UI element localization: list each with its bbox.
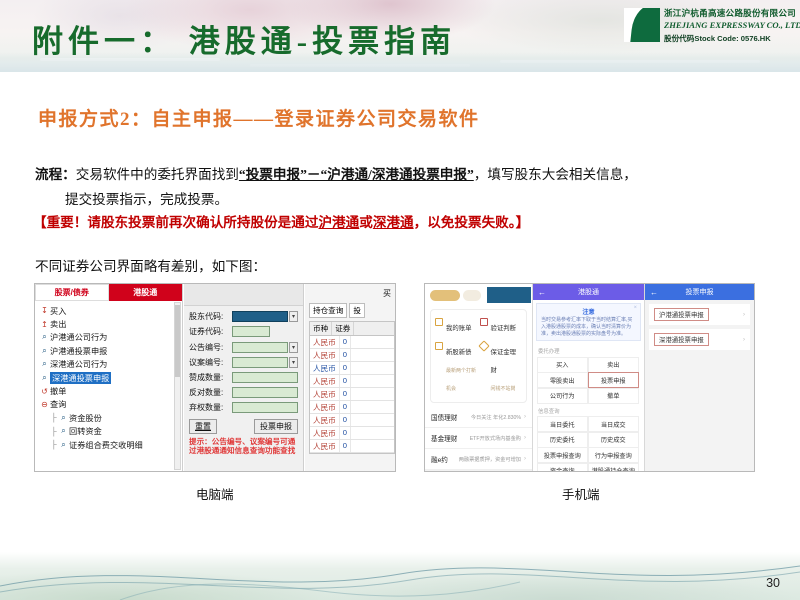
mobile-trade-button-2[interactable]: 零股卖出 xyxy=(537,372,589,388)
pc-table-body: 人民币0人民币0人民币0人民币0人民币0人民币0人民币0人民币0人民币0 xyxy=(310,336,394,453)
pc-menu-item-3[interactable]: ⌕沪港通投票申报 xyxy=(39,344,182,357)
cell-currency: 人民币 xyxy=(310,362,340,374)
list-item-label: 基金理财 xyxy=(431,433,457,443)
back-arrow-icon[interactable]: ← xyxy=(650,288,658,297)
mobile-quick-newstock[interactable]: 新股新债 最新两个打新机会 xyxy=(434,338,479,398)
mobile-hk-title: 港股通 xyxy=(533,287,644,297)
pc-form-row-2: 公告编号:▾ xyxy=(189,340,298,354)
table-row[interactable]: 人民币0 xyxy=(310,349,394,362)
list-item-label: 国债理财 xyxy=(431,412,457,422)
up-arrow-icon: ↥ xyxy=(39,320,50,329)
pc-form-row-1: 证券代码: xyxy=(189,325,298,339)
mobile-vote-titlebar: ← 投票申报 xyxy=(645,284,754,300)
flow-line-2: 提交投票指示，完成投票。 xyxy=(35,187,780,212)
cell-security: 0 xyxy=(340,440,351,452)
flow-text-1: 交易软件中的委托界面找到 xyxy=(76,167,239,182)
company-logo: 浙江沪杭甬高速公路股份有限公司 ZHEJIANG EXPRESSWAY CO.,… xyxy=(624,7,794,55)
tree-dash-icon: ├ xyxy=(51,413,58,422)
pc-menu-item-label: 资金股份 xyxy=(69,412,102,424)
pc-right-tab-positions[interactable]: 持仓查询 xyxy=(309,303,347,318)
down-arrow-icon: ↧ xyxy=(39,306,50,315)
search-icon: ⌕ xyxy=(39,332,50,342)
cell-currency: 人民币 xyxy=(310,440,340,452)
search-icon: ⌕ xyxy=(39,359,50,369)
pc-menu-item-label: 深港通投票申报 xyxy=(50,372,111,384)
mobile-home-topbar xyxy=(425,284,532,308)
pc-right-panel: 买 持仓查询 投 币种 证券 人民币0人民币0人民币0人民币0人民币0人民币0人… xyxy=(305,284,395,471)
pc-right-tabs: 持仓查询 投 xyxy=(305,299,395,318)
warning-mid: 或 xyxy=(359,215,373,230)
pc-field-label-1: 证券代码: xyxy=(189,326,232,337)
note-line: 不同证券公司界面略有差别，如下图： xyxy=(35,255,266,275)
mobile-panel-vote: ← 投票申报 沪港通投票申报›深港通投票申报› xyxy=(645,284,754,471)
tree-dash-icon: ├ xyxy=(51,440,58,449)
close-icon[interactable]: × xyxy=(634,305,637,311)
mobile-tab-normal[interactable] xyxy=(430,290,460,301)
cell-security: 0 xyxy=(340,388,351,400)
mobile-trade-button-5[interactable]: 撤单 xyxy=(588,388,640,404)
cell-security: 0 xyxy=(340,362,351,374)
minus-box-icon: ⊖ xyxy=(39,400,50,409)
mobile-quick-sub: 闲钱不站岗 xyxy=(491,386,516,392)
cell-security: 0 xyxy=(340,375,351,387)
pc-form-row-5: 反对数量: xyxy=(189,386,298,400)
table-row[interactable]: 人民币0 xyxy=(310,375,394,388)
mobile-trade-button-0[interactable]: 买入 xyxy=(537,357,589,373)
pc-form-tip: 提示：公告编号、议案编号可通过港股通通知信息查询功能查找 xyxy=(189,437,298,456)
flow-label: 流程： xyxy=(35,167,76,182)
pc-field-input-0[interactable] xyxy=(232,311,288,322)
table-row[interactable]: 人民币0 xyxy=(310,388,394,401)
table-row[interactable]: 人民币0 xyxy=(310,427,394,440)
mobile-query-button-5[interactable]: 行为申报查询 xyxy=(588,447,640,463)
pc-field-input-3[interactable] xyxy=(232,357,288,368)
pc-form-panel: 股东代码:▾证券代码:公告编号:▾议案编号:▾赞成数量:反对数量:弃权数量: 重… xyxy=(184,284,304,471)
caption-desktop: 电脑端 xyxy=(196,484,234,503)
pc-menu-item-8[interactable]: ├⌕资金股份 xyxy=(39,411,182,424)
mobile-quick-sub: 最新两个打新机会 xyxy=(446,368,476,392)
search-icon: ⌕ xyxy=(58,440,69,450)
pc-menu-list: ↧买入↥卖出⌕沪港通公司行为⌕沪港通投票申报⌕深港通公司行为⌕深港通投票申报↺撤… xyxy=(35,301,182,451)
pc-menu-item-9[interactable]: ├⌕回转资金 xyxy=(39,425,182,438)
pc-positions-table: 币种 证券 人民币0人民币0人民币0人民币0人民币0人民币0人民币0人民币0人民… xyxy=(309,321,395,454)
pc-form-row-0: 股东代码:▾ xyxy=(189,310,298,324)
chevron-down-icon[interactable]: ▾ xyxy=(289,357,298,368)
pc-menu-item-0[interactable]: ↧买入 xyxy=(39,304,182,317)
pc-menu-item-7[interactable]: ⊖查询 xyxy=(39,398,182,411)
table-row[interactable]: 人民币0 xyxy=(310,401,394,414)
mobile-query-button-3[interactable]: 历史成交 xyxy=(588,432,640,448)
road-curve-graphic xyxy=(0,552,800,600)
mobile-group1-title: 委托办理 xyxy=(533,344,644,357)
pc-field-label-2: 公告编号: xyxy=(189,342,232,353)
logo-text-block: 浙江沪杭甬高速公路股份有限公司 ZHEJIANG EXPRESSWAY CO.,… xyxy=(664,7,794,44)
mobile-query-button-0[interactable]: 当日委托 xyxy=(537,416,589,432)
logo-company-en: ZHEJIANG EXPRESSWAY CO., LTD. xyxy=(664,20,794,30)
page-number: 30 xyxy=(766,576,780,590)
pc-field-label-3: 议案编号: xyxy=(189,357,232,368)
cell-security: 0 xyxy=(340,401,351,413)
pc-vote-form: 股东代码:▾证券代码:公告编号:▾议案编号:▾赞成数量:反对数量:弃权数量: xyxy=(184,306,303,415)
mobile-vote-item-label: 深港通投票申报 xyxy=(654,333,709,346)
mobile-screenshot: 我的账单 验证判断 新股新债 最新两个打新机会 xyxy=(424,283,755,472)
mobile-panel-hkconnect: ← 港股通 × 注意 当时交易参考汇率下取于当时结算汇率,买入港股通股票的成本，… xyxy=(533,284,645,471)
pc-menu-item-6[interactable]: ↺撤单 xyxy=(39,384,182,397)
flow-paragraph: 流程：交易软件中的委托界面找到“投票申报”－“沪港通/深港通投票申报”，填写股东… xyxy=(35,162,780,212)
pc-tab-hk-connect[interactable]: 港股通 xyxy=(109,284,183,301)
list-item[interactable]: 国债理财今日关注 年化2.830%› xyxy=(425,407,532,428)
search-icon: ⌕ xyxy=(58,413,69,423)
pc-submit-button[interactable]: 投票申报 xyxy=(254,419,298,434)
cell-security: 0 xyxy=(340,349,351,361)
important-warning: 【重要！请股东投票前再次确认所持股份是通过沪港通或深港通，以免投票失败。】 xyxy=(33,211,783,231)
list-item-label: 融e约 xyxy=(431,454,448,464)
pc-menu-item-label: 卖出 xyxy=(50,318,66,330)
mobile-quick-bills[interactable]: 我的账单 xyxy=(434,314,479,338)
pc-field-input-1[interactable] xyxy=(232,326,270,337)
pc-field-input-4[interactable] xyxy=(232,372,298,383)
pc-menu-item-1[interactable]: ↥卖出 xyxy=(39,317,182,330)
list-item[interactable]: 融e约两融票据质押，资金可增加› xyxy=(425,449,532,470)
mobile-quick-margin[interactable]: 保证金理财 闲钱不站岗 xyxy=(479,338,524,398)
cell-currency: 人民币 xyxy=(310,375,340,387)
pc-field-label-6: 弃权数量: xyxy=(189,402,232,413)
search-icon: ⌕ xyxy=(39,373,50,383)
cell-currency: 人民币 xyxy=(310,427,340,439)
cell-currency: 人民币 xyxy=(310,414,340,426)
table-row[interactable]: 人民币0 xyxy=(310,440,394,453)
table-row[interactable]: 人民币0 xyxy=(310,336,394,349)
cell-security: 0 xyxy=(340,427,351,439)
pc-menu-item-10[interactable]: ├⌕证券组合费交收明细 xyxy=(39,438,182,451)
mobile-group2-title: 信息查询 xyxy=(533,404,644,417)
chevron-down-icon[interactable]: ▾ xyxy=(289,342,298,353)
pc-field-input-5[interactable] xyxy=(232,387,298,398)
mobile-trade-button-1[interactable]: 卖出 xyxy=(588,357,640,373)
pc-field-input-2[interactable] xyxy=(232,342,288,353)
mobile-vote-item-1[interactable]: 深港通投票申报› xyxy=(649,329,750,350)
cell-currency: 人民币 xyxy=(310,401,340,413)
mobile-notice-box: × 注意 当时交易参考汇率下取于当时结算汇率,买入港股通股票的成本，确认当时清算… xyxy=(536,303,641,341)
pc-col-currency: 币种 xyxy=(310,322,332,335)
pc-menu-item-label: 证券组合费交收明细 xyxy=(69,439,143,451)
chevron-right-icon: › xyxy=(743,337,745,343)
mobile-quick-label: 我的账单 xyxy=(446,325,472,332)
caption-mobile: 手机端 xyxy=(562,484,600,503)
verify-icon xyxy=(480,318,488,326)
pc-form-buttons: 重置 投票申报 xyxy=(189,419,298,434)
pc-table-header: 币种 证券 xyxy=(310,322,394,336)
pc-menu-item-4[interactable]: ⌕深港通公司行为 xyxy=(39,358,182,371)
pc-reset-button[interactable]: 重置 xyxy=(189,419,217,434)
chevron-right-icon: › xyxy=(524,435,526,441)
header-streak xyxy=(250,64,470,67)
mobile-quick-label: 保证金理财 xyxy=(491,349,517,374)
pc-form-row-4: 赞成数量: xyxy=(189,371,298,385)
pc-right-title: 买 xyxy=(305,284,395,299)
mobile-quick-label: 新股新债 xyxy=(446,349,472,356)
list-item[interactable]: 基金理财ETF开放式场内基金购› xyxy=(425,428,532,449)
chevron-down-icon[interactable]: ▾ xyxy=(289,311,298,322)
page-title: 附件一： 港股通-投票指南 xyxy=(32,16,456,61)
list-item-sub: 两融票据质押，资金可增加 xyxy=(459,456,521,463)
mobile-quick-label: 验证判断 xyxy=(491,325,517,332)
cell-security: 0 xyxy=(340,336,351,348)
pc-menu-item-label: 买入 xyxy=(50,305,66,317)
table-row[interactable]: 人民币0 xyxy=(310,362,394,375)
mobile-query-button-1[interactable]: 当日成交 xyxy=(588,416,640,432)
pc-tab-stocks[interactable]: 股票/债券 xyxy=(35,284,109,301)
warning-underline-2: 深港通 xyxy=(373,215,414,230)
back-arrow-icon[interactable]: ← xyxy=(538,288,546,297)
mobile-group1-buttons: 买入卖出零股卖出投票申报公司行为撤单 xyxy=(533,357,644,404)
pc-menu-item-2[interactable]: ⌕沪港通公司行为 xyxy=(39,331,182,344)
list-item-sub: ETF开放式场内基金购 xyxy=(470,435,521,442)
pc-field-label-4: 赞成数量: xyxy=(189,372,232,383)
footer-decoration xyxy=(0,552,800,600)
mobile-quick-verify[interactable]: 验证判断 xyxy=(479,314,524,338)
logo-company-cn: 浙江沪杭甬高速公路股份有限公司 xyxy=(664,7,794,19)
pc-menu-item-label: 沪港通公司行为 xyxy=(50,331,107,343)
cell-currency: 人民币 xyxy=(310,388,340,400)
flow-text-2: ，填写股东大会相关信息， xyxy=(474,167,637,182)
pc-sidebar: 股票/债券 港股通 ↧买入↥卖出⌕沪港通公司行为⌕沪港通投票申报⌕深港通公司行为… xyxy=(35,284,183,471)
mobile-query-button-4[interactable]: 投票申报查询 xyxy=(537,447,589,463)
cell-currency: 人民币 xyxy=(310,336,340,348)
cancel-icon: ↺ xyxy=(39,387,50,396)
list-divider xyxy=(425,470,532,472)
mobile-panel-home: 我的账单 验证判断 新股新债 最新两个打新机会 xyxy=(425,284,533,471)
mobile-notice-title: 注意 xyxy=(541,307,636,316)
pc-form-row-3: 议案编号:▾ xyxy=(189,356,298,370)
list-item-sub: 今日关注 年化2.830% xyxy=(471,414,521,421)
mobile-trade-button-3[interactable]: 投票申报 xyxy=(588,372,640,388)
flow-quoted-path: “投票申报”－“沪港通/深港通投票申报” xyxy=(239,167,474,182)
mobile-query-button-2[interactable]: 历史委托 xyxy=(537,432,589,448)
mobile-trade-button-4[interactable]: 公司行为 xyxy=(537,388,589,404)
pc-right-tab-vote[interactable]: 投 xyxy=(349,303,365,318)
pc-menu-item-label: 沪港通投票申报 xyxy=(50,345,107,357)
table-row[interactable]: 人民币0 xyxy=(310,414,394,427)
pc-menu-item-label: 撤单 xyxy=(50,385,66,397)
desktop-screenshot: 股票/债券 港股通 ↧买入↥卖出⌕沪港通公司行为⌕沪港通投票申报⌕深港通公司行为… xyxy=(34,283,396,472)
mobile-home-list: 国债理财今日关注 年化2.830%›基金理财ETF开放式场内基金购›融e约两融票… xyxy=(425,407,532,472)
mobile-notice-text: 当时交易参考汇率下取于当时结算汇率,买入港股通股票的成本，确认当时清算价为准，卖… xyxy=(541,317,636,337)
pc-menu-item-5[interactable]: ⌕深港通投票申报 xyxy=(39,371,182,384)
mobile-group2-buttons: 当日委托当日成交历史委托历史成交投票申报查询行为申报查询资金查询港股通持仓查询汇… xyxy=(533,417,644,472)
pc-form-titlebar xyxy=(184,284,303,306)
chevron-right-icon: › xyxy=(524,414,526,420)
pc-menu-item-label: 深港通公司行为 xyxy=(50,358,107,370)
pc-field-label-5: 反对数量: xyxy=(189,387,232,398)
cell-currency: 人民币 xyxy=(310,349,340,361)
warning-post: ，以免投票失败。】 xyxy=(414,215,530,230)
newstock-icon xyxy=(435,342,443,350)
mobile-vote-title: 投票申报 xyxy=(645,287,754,297)
tree-dash-icon: ├ xyxy=(51,427,58,436)
pc-col-security: 证券 xyxy=(332,322,354,335)
chevron-right-icon: › xyxy=(743,312,745,318)
mobile-vote-item-0[interactable]: 沪港通投票申报› xyxy=(649,304,750,325)
bill-icon xyxy=(435,318,443,326)
pc-scrollbar[interactable] xyxy=(174,302,181,470)
logo-stock-code: 股份代码Stock Code: 0576.HK xyxy=(664,33,794,44)
logo-mark-icon xyxy=(624,8,660,42)
pc-menu-item-label: 回转资金 xyxy=(69,425,102,437)
search-icon: ⌕ xyxy=(58,426,69,436)
section-heading: 申报方式2：自主申报——登录证券公司交易软件 xyxy=(38,104,480,131)
mobile-query-button-7[interactable]: 港股通持仓查询 xyxy=(588,463,640,472)
chevron-right-icon: › xyxy=(524,456,526,462)
search-icon: ⌕ xyxy=(39,346,50,356)
mobile-query-button-6[interactable]: 资金查询 xyxy=(537,463,589,472)
mobile-vote-list: 沪港通投票申报›深港通投票申报› xyxy=(645,300,754,472)
mobile-home-banner xyxy=(487,287,531,303)
mobile-quick-card: 我的账单 验证判断 新股新债 最新两个打新机会 xyxy=(430,309,527,403)
margin-icon xyxy=(478,340,489,351)
header-streak xyxy=(500,60,760,63)
pc-form-row-6: 弃权数量: xyxy=(189,401,298,415)
pc-field-label-0: 股东代码: xyxy=(189,311,232,322)
mobile-vote-item-label: 沪港通投票申报 xyxy=(654,308,709,321)
warning-underline-1: 沪港通 xyxy=(318,215,359,230)
pc-menu-item-label: 查询 xyxy=(50,398,66,410)
cell-security: 0 xyxy=(340,414,351,426)
mobile-hk-titlebar: ← 港股通 xyxy=(533,284,644,300)
warning-pre: 【重要！请股东投票前再次确认所持股份是通过 xyxy=(33,215,318,230)
mobile-tab-credit[interactable] xyxy=(463,290,481,301)
pc-tab-strip: 股票/债券 港股通 xyxy=(35,284,182,301)
pc-field-input-6[interactable] xyxy=(232,402,298,413)
